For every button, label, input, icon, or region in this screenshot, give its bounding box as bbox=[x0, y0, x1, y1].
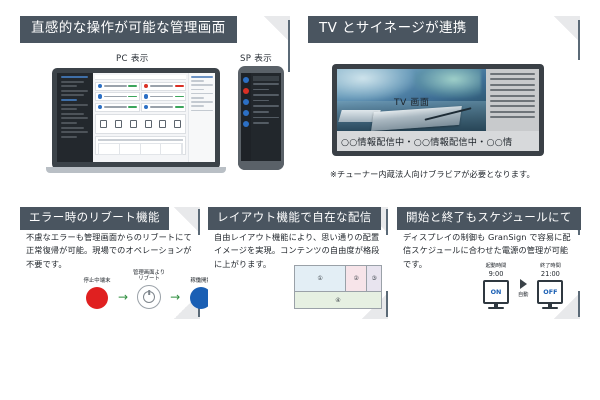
display-off-icon: OFF bbox=[537, 280, 563, 308]
phone-screenshot bbox=[241, 73, 281, 161]
dashboard-status-cards bbox=[95, 82, 186, 112]
schedule-start-label: 起動時間 bbox=[479, 263, 513, 270]
tv-screen: TV 画面 ○○情報配信中・○○情報配信中・○○情 bbox=[337, 69, 539, 151]
panel-reboot-title: エラー時のリブート機能 bbox=[20, 207, 169, 230]
corner-accent-icon bbox=[554, 16, 580, 42]
layout-grid-diagram: ① ② ③ ④ bbox=[294, 265, 382, 309]
panel-layout-title: レイアウト機能で自在な配信 bbox=[208, 207, 381, 230]
dashboard-icon-row bbox=[95, 114, 186, 134]
corner-accent-icon bbox=[264, 16, 290, 42]
panel-reboot-function: エラー時のリブート機能 不慮なエラーも管理画面からのリブートにて正常復帰が可能。… bbox=[20, 207, 200, 319]
display-on-icon: ON bbox=[483, 280, 509, 308]
edge-accent-line bbox=[198, 209, 200, 235]
edge-accent-line bbox=[288, 20, 290, 72]
laptop-mockup bbox=[52, 68, 220, 169]
schedule-end: 終了時間 21:00 OFF bbox=[533, 263, 567, 308]
panel-admin-screen: 直感的な操作が可能な管理画面 PC 表示 SP 表示 bbox=[20, 16, 290, 188]
schedule-start-time: 9:00 bbox=[479, 270, 513, 278]
tv-footnote: ※チューナー内蔵法人向けブラビアが必要となります。 bbox=[330, 168, 535, 180]
layout-cell-3: ③ bbox=[367, 266, 381, 291]
power-icon bbox=[137, 285, 161, 309]
dashboard-screenshot bbox=[57, 73, 215, 162]
laptop-base bbox=[46, 167, 226, 173]
panel-reboot-body: 不慮なエラーも管理画面からのリブートにて正常復帰が可能。現場でのオペレーションが… bbox=[26, 231, 192, 271]
tv-ticker-text: ○○情報配信中・○○情報配信中・○○情 bbox=[337, 131, 539, 151]
auto-label: 自動 bbox=[518, 291, 528, 298]
tv-side-panel bbox=[486, 69, 539, 131]
caption-pc-display: PC 表示 bbox=[116, 52, 149, 64]
schedule-end-label: 終了時間 bbox=[533, 263, 567, 270]
display-state-on: ON bbox=[483, 280, 509, 304]
edge-accent-line bbox=[386, 291, 388, 317]
tv-mockup: TV 画面 ○○情報配信中・○○情報配信中・○○情 bbox=[332, 64, 544, 156]
tv-screen-label: TV 画面 bbox=[337, 95, 486, 108]
layout-cell-1: ① bbox=[295, 266, 346, 291]
phone-bottom-bar bbox=[238, 161, 284, 170]
dashboard-sidebar bbox=[57, 73, 93, 162]
tv-photo-content: TV 画面 bbox=[337, 69, 486, 131]
flow-step-label: 停止中端末 bbox=[80, 271, 114, 285]
arrow-icon: → bbox=[118, 291, 128, 309]
schedule-end-time: 21:00 bbox=[533, 270, 567, 278]
flow-step-reboot: 管理画面よりリブート bbox=[132, 269, 166, 309]
dashboard-main bbox=[93, 73, 188, 162]
phone-mockup bbox=[238, 66, 284, 170]
edge-accent-line bbox=[578, 20, 580, 60]
dashboard-right-rail bbox=[188, 73, 215, 162]
infographic-sheet: 直感的な操作が可能な管理画面 PC 表示 SP 表示 bbox=[0, 0, 600, 400]
display-state-off: OFF bbox=[537, 280, 563, 304]
auto-arrow-icon: 自動 bbox=[518, 263, 528, 298]
schedule-start: 起動時間 9:00 ON bbox=[479, 263, 513, 308]
panel-admin-title: 直感的な操作が可能な管理画面 bbox=[20, 16, 237, 43]
arrow-icon: → bbox=[170, 291, 180, 309]
corner-accent-icon bbox=[174, 207, 200, 233]
phone-content-column bbox=[251, 73, 281, 161]
panel-tv-title: TV とサイネージが連携 bbox=[308, 16, 478, 43]
panel-schedule-function: 開始と終了もスケジュールにて ディスプレイの制御も GranSign で容易に配… bbox=[397, 207, 580, 319]
panel-layout-function: レイアウト機能で自在な配信 自由レイアウト機能により、思い通りの配置イメージを実… bbox=[208, 207, 388, 319]
layout-cell-2: ② bbox=[346, 266, 367, 291]
layout-cell-4: ④ bbox=[295, 291, 381, 308]
dashboard-table bbox=[95, 136, 186, 155]
edge-accent-line bbox=[386, 209, 388, 235]
flow-step-stopped: 停止中端末 bbox=[80, 271, 114, 309]
panel-schedule-title: 開始と終了もスケジュールにて bbox=[397, 207, 581, 230]
reboot-flow-diagram: 停止中端末 → 管理画面よりリブート → 稼働開始 bbox=[80, 269, 218, 309]
schedule-diagram: 起動時間 9:00 ON 自動 終了時間 21:00 OFF bbox=[479, 263, 567, 308]
monitor-icon bbox=[86, 287, 108, 309]
edge-accent-line bbox=[578, 291, 580, 317]
panel-tv-signage: TV とサイネージが連携 TV 画面 ○○情報配信中・ bbox=[308, 16, 580, 188]
flow-step-label: 管理画面よりリブート bbox=[132, 269, 166, 283]
caption-sp-display: SP 表示 bbox=[240, 52, 272, 64]
phone-status-column bbox=[241, 73, 251, 161]
